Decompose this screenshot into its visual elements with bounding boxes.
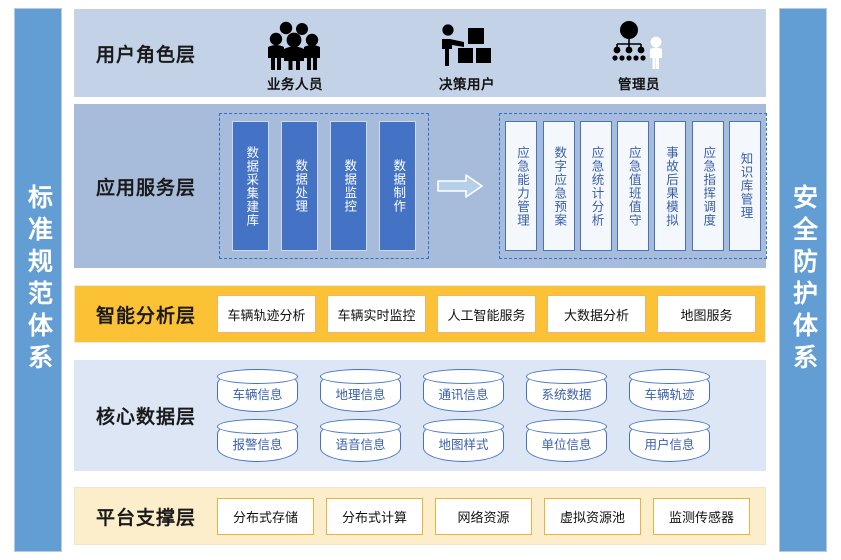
app-box-knowledge-base[interactable]: 知识库管理 bbox=[729, 121, 761, 251]
db-vehicle-trajectory[interactable]: 车辆轨迹 bbox=[629, 370, 710, 412]
user-role-layer: 用户角色层 业务人员 bbox=[74, 9, 766, 97]
db-geographic-info[interactable]: 地理信息 bbox=[320, 370, 401, 412]
db-alarm-info-label: 报警信息 bbox=[232, 434, 282, 453]
db-system-data-label: 系统数据 bbox=[541, 384, 591, 403]
right-arrow-icon bbox=[436, 173, 484, 199]
user-role-layer-title: 用户角色层 bbox=[75, 40, 217, 67]
app-box-data-production[interactable]: 数据制作 bbox=[379, 121, 416, 251]
platform-support-layer-body: 分布式存储 分布式计算 网络资源 虚拟资源池 监测传感器 bbox=[217, 488, 765, 544]
core-data-row-2: 报警信息 语音信息 地图样式 单位信息 用户信息 bbox=[217, 420, 710, 462]
db-unit-info-label: 单位信息 bbox=[541, 434, 591, 453]
db-communication-info[interactable]: 通讯信息 bbox=[423, 370, 504, 412]
ai-chip-vehicle-realtime-monitor[interactable]: 车辆实时监控 bbox=[327, 295, 426, 333]
app-box-emergency-duty[interactable]: 应急值班值守 bbox=[617, 121, 649, 251]
core-data-layer: 核心数据层 车辆信息 地理信息 通讯信息 系统数据 车辆轨迹 报警信息 语音信息… bbox=[74, 360, 766, 471]
db-map-style-label: 地图样式 bbox=[438, 434, 488, 453]
data-core-group: 数据采集建库 数据处理 数据监控 数据制作 bbox=[219, 113, 429, 259]
db-user-info[interactable]: 用户信息 bbox=[629, 420, 710, 462]
ai-chip-big-data-analysis[interactable]: 大数据分析 bbox=[547, 295, 646, 333]
group-people-icon bbox=[264, 20, 326, 70]
db-vehicle-info-label: 车辆信息 bbox=[232, 384, 282, 403]
ai-chip-ai-service[interactable]: 人工智能服务 bbox=[437, 295, 536, 333]
db-geographic-info-label: 地理信息 bbox=[335, 384, 385, 403]
app-box-digital-plan[interactable]: 数字应急预案 bbox=[543, 121, 575, 251]
application-service-layer-title: 应用服务层 bbox=[75, 173, 217, 200]
db-vehicle-trajectory-label: 车辆轨迹 bbox=[644, 384, 694, 403]
role-administrator[interactable]: 管理员 bbox=[583, 13, 695, 93]
user-role-layer-body: 业务人员 决策用户 bbox=[217, 10, 765, 96]
ai-chip-vehicle-trajectory[interactable]: 车辆轨迹分析 bbox=[217, 295, 316, 333]
db-voice-info[interactable]: 语音信息 bbox=[320, 420, 401, 462]
security-pillar: 安全防护体系 bbox=[779, 8, 827, 552]
app-box-emergency-statistics[interactable]: 应急统计分析 bbox=[580, 121, 612, 251]
core-data-layer-body: 车辆信息 地理信息 通讯信息 系统数据 车辆轨迹 报警信息 语音信息 地图样式 … bbox=[217, 361, 765, 470]
platform-support-layer: 平台支撑层 分布式存储 分布式计算 网络资源 虚拟资源池 监测传感器 bbox=[74, 487, 766, 545]
platform-chip-distributed-computing[interactable]: 分布式计算 bbox=[326, 498, 423, 535]
role-business-staff-label: 业务人员 bbox=[267, 73, 323, 93]
app-box-data-collection[interactable]: 数据采集建库 bbox=[232, 121, 269, 251]
app-box-data-processing[interactable]: 数据处理 bbox=[281, 121, 318, 251]
platform-chip-virtual-resource-pool[interactable]: 虚拟资源池 bbox=[544, 498, 641, 535]
app-box-accident-simulation[interactable]: 事故后果模拟 bbox=[654, 121, 686, 251]
platform-chip-monitoring-sensors[interactable]: 监测传感器 bbox=[653, 498, 750, 535]
person-blocks-icon bbox=[436, 20, 498, 70]
db-system-data[interactable]: 系统数据 bbox=[526, 370, 607, 412]
db-alarm-info[interactable]: 报警信息 bbox=[217, 420, 298, 462]
db-map-style[interactable]: 地图样式 bbox=[423, 420, 504, 462]
platform-support-layer-title: 平台支撑层 bbox=[75, 503, 217, 530]
db-unit-info[interactable]: 单位信息 bbox=[526, 420, 607, 462]
db-voice-info-label: 语音信息 bbox=[335, 434, 385, 453]
standards-pillar-label: 标准规范体系 bbox=[26, 184, 51, 376]
application-service-layer-body: 数据采集建库 数据处理 数据监控 数据制作 应急能力管理 数字应急预案 应急统计… bbox=[217, 105, 767, 267]
intelligent-analysis-layer-title: 智能分析层 bbox=[75, 301, 217, 328]
flow-arrow bbox=[429, 173, 491, 199]
intelligent-analysis-layer: 智能分析层 车辆轨迹分析 车辆实时监控 人工智能服务 大数据分析 地图服务 bbox=[74, 285, 766, 343]
app-box-emergency-dispatch[interactable]: 应急指挥调度 bbox=[692, 121, 724, 251]
role-administrator-label: 管理员 bbox=[618, 73, 660, 93]
db-communication-info-label: 通讯信息 bbox=[438, 384, 488, 403]
core-data-layer-title: 核心数据层 bbox=[75, 402, 217, 429]
db-vehicle-info[interactable]: 车辆信息 bbox=[217, 370, 298, 412]
db-user-info-label: 用户信息 bbox=[644, 434, 694, 453]
role-business-staff[interactable]: 业务人员 bbox=[239, 13, 351, 93]
platform-chip-distributed-storage[interactable]: 分布式存储 bbox=[217, 498, 314, 535]
role-decision-user[interactable]: 决策用户 bbox=[411, 13, 523, 93]
application-service-layer: 应用服务层 数据采集建库 数据处理 数据监控 数据制作 应急能力管理 数字应急预… bbox=[74, 104, 766, 268]
ai-chip-map-service[interactable]: 地图服务 bbox=[657, 295, 756, 333]
architecture-diagram: 标准规范体系 安全防护体系 用户角色层 bbox=[0, 0, 841, 560]
platform-chip-network-resources[interactable]: 网络资源 bbox=[435, 498, 532, 535]
org-chart-person-icon bbox=[608, 20, 670, 70]
emergency-business-group: 应急能力管理 数字应急预案 应急统计分析 应急值班值守 事故后果模拟 应急指挥调… bbox=[499, 113, 767, 259]
role-decision-user-label: 决策用户 bbox=[439, 73, 495, 93]
intelligent-analysis-layer-body: 车辆轨迹分析 车辆实时监控 人工智能服务 大数据分析 地图服务 bbox=[217, 286, 765, 342]
app-box-data-monitoring[interactable]: 数据监控 bbox=[330, 121, 367, 251]
core-data-row-1: 车辆信息 地理信息 通讯信息 系统数据 车辆轨迹 bbox=[217, 370, 710, 412]
security-pillar-label: 安全防护体系 bbox=[791, 184, 816, 376]
app-box-emergency-capability[interactable]: 应急能力管理 bbox=[505, 121, 537, 251]
standards-pillar: 标准规范体系 bbox=[14, 8, 62, 552]
